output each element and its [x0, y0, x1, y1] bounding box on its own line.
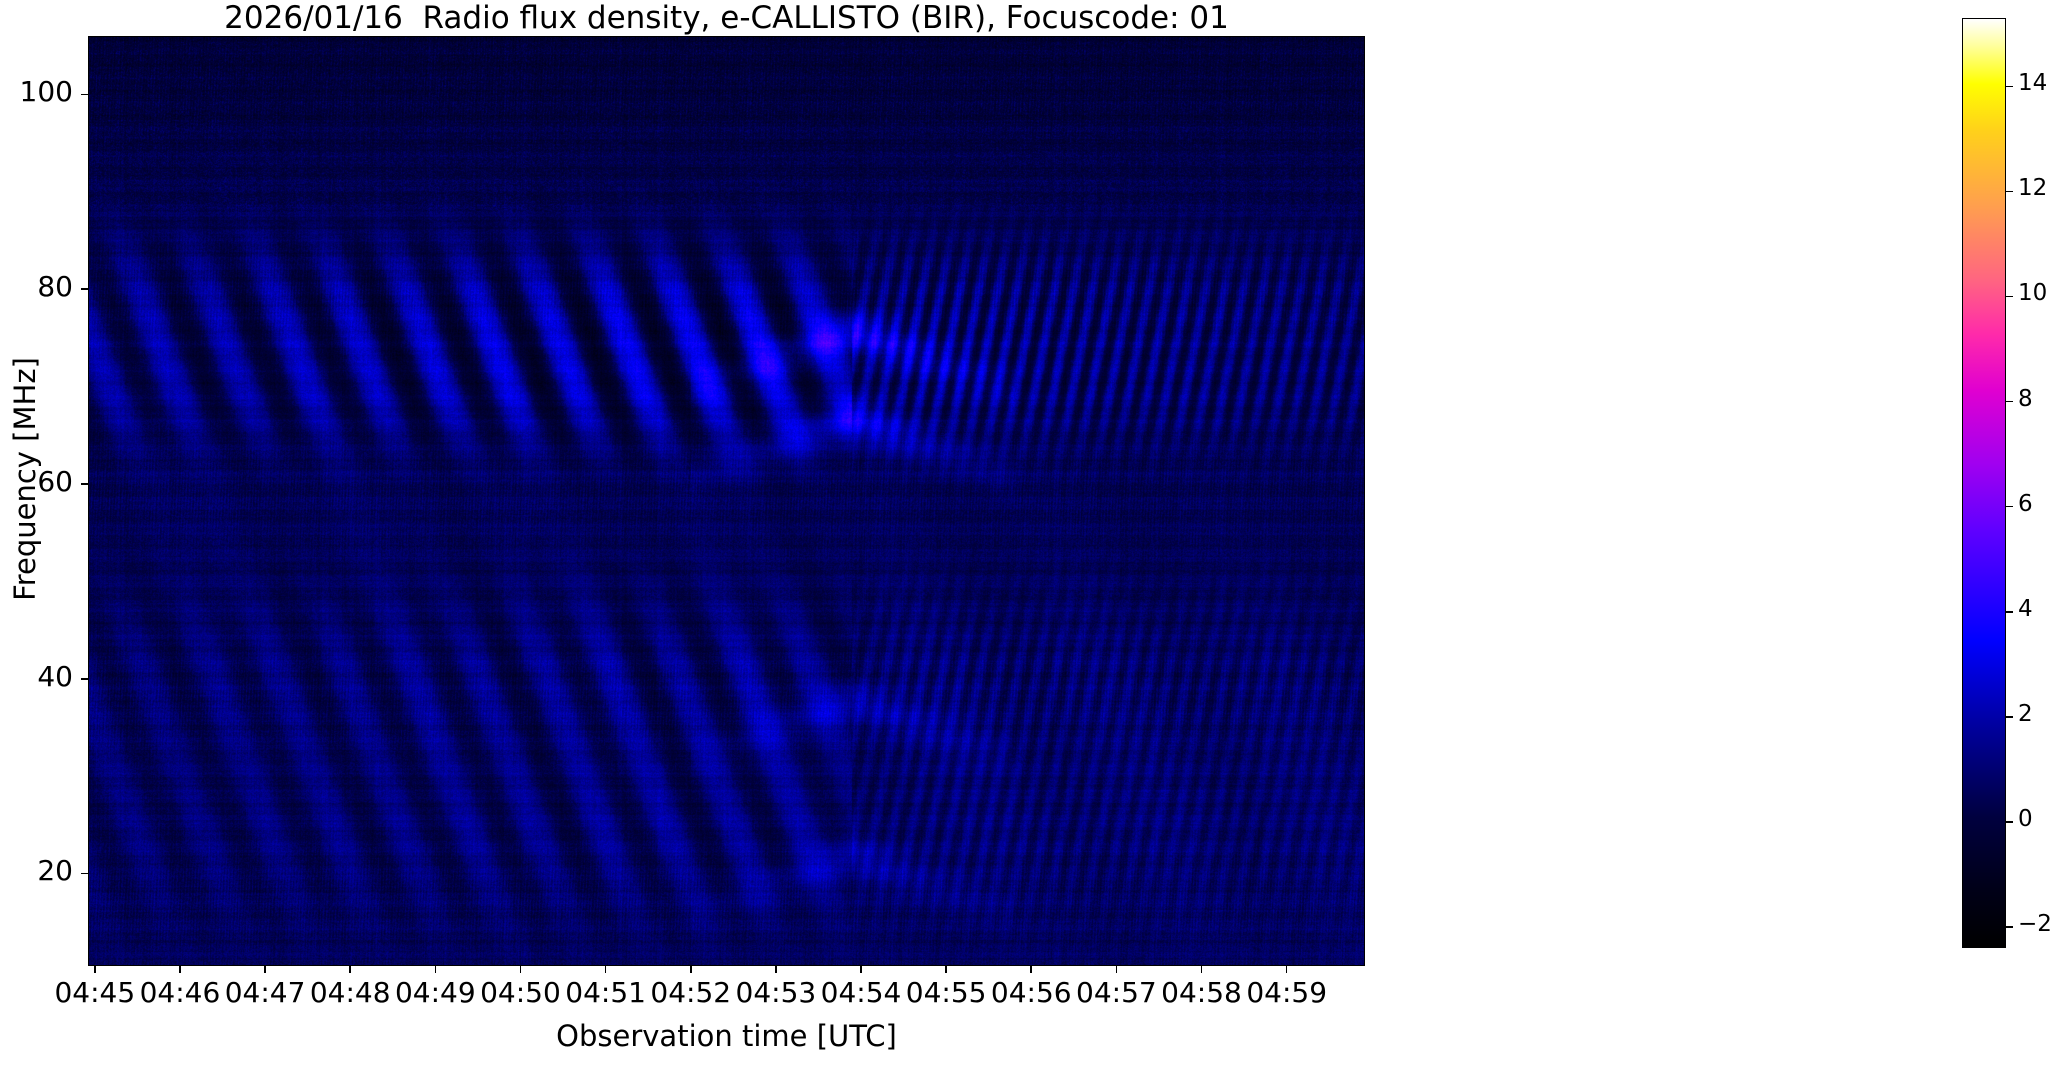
- colorbar-tick-mark: [2006, 506, 2013, 508]
- y-tick-mark: [81, 288, 88, 290]
- colorbar-tick-mark: [2006, 401, 2013, 403]
- colorbar-tick-label: 2: [2018, 701, 2033, 727]
- colorbar[interactable]: [1962, 18, 2006, 948]
- colorbar-tick-mark: [2006, 716, 2013, 718]
- x-tick-mark: [690, 966, 692, 973]
- colorbar-tick-mark: [2006, 611, 2013, 613]
- y-tick-mark: [81, 678, 88, 680]
- y-tick-label: 80: [0, 270, 73, 303]
- x-tick-mark: [945, 966, 947, 973]
- spectrogram-axes[interactable]: [88, 36, 1365, 966]
- x-tick-mark: [1030, 966, 1032, 973]
- x-tick-mark: [264, 966, 266, 973]
- y-tick-label: 60: [0, 465, 73, 498]
- x-tick-mark: [1116, 966, 1118, 973]
- colorbar-tick-label: 8: [2018, 386, 2033, 412]
- x-tick-mark: [179, 966, 181, 973]
- colorbar-tick-label: 14: [2018, 70, 2047, 96]
- colorbar-tick-label: 12: [2018, 175, 2047, 201]
- x-tick-mark: [349, 966, 351, 973]
- page-title: 2026/01/16 Radio flux density, e-CALLIST…: [88, 2, 1365, 35]
- x-tick-mark: [520, 966, 522, 973]
- x-tick-mark: [860, 966, 862, 973]
- x-tick-label: 04:59: [1232, 976, 1342, 1009]
- y-tick-mark: [81, 94, 88, 96]
- colorbar-gradient: [1963, 19, 2005, 947]
- colorbar-tick-label: 10: [2018, 280, 2047, 306]
- colorbar-tick-label: −2: [2018, 911, 2052, 937]
- colorbar-tick-mark: [2006, 86, 2013, 88]
- spectrogram-image[interactable]: [89, 37, 1364, 965]
- x-axis-label: Observation time [UTC]: [88, 1019, 1365, 1053]
- colorbar-tick-mark: [2006, 926, 2013, 928]
- y-tick-mark: [81, 873, 88, 875]
- colorbar-tick-label: 4: [2018, 596, 2033, 622]
- y-tick-label: 40: [0, 660, 73, 693]
- spectrogram-figure: 2026/01/16 Radio flux density, e-CALLIST…: [0, 0, 2066, 1067]
- y-tick-label: 20: [0, 854, 73, 887]
- colorbar-tick-mark: [2006, 296, 2013, 298]
- colorbar-tick-label: 0: [2018, 806, 2033, 832]
- y-tick-mark: [81, 483, 88, 485]
- y-tick-label: 100: [0, 75, 73, 108]
- x-tick-mark: [94, 966, 96, 973]
- x-tick-mark: [435, 966, 437, 973]
- colorbar-tick-mark: [2006, 821, 2013, 823]
- x-tick-mark: [775, 966, 777, 973]
- x-tick-mark: [605, 966, 607, 973]
- x-tick-mark: [1201, 966, 1203, 973]
- colorbar-tick-mark: [2006, 191, 2013, 193]
- x-tick-mark: [1286, 966, 1288, 973]
- colorbar-tick-label: 6: [2018, 491, 2033, 517]
